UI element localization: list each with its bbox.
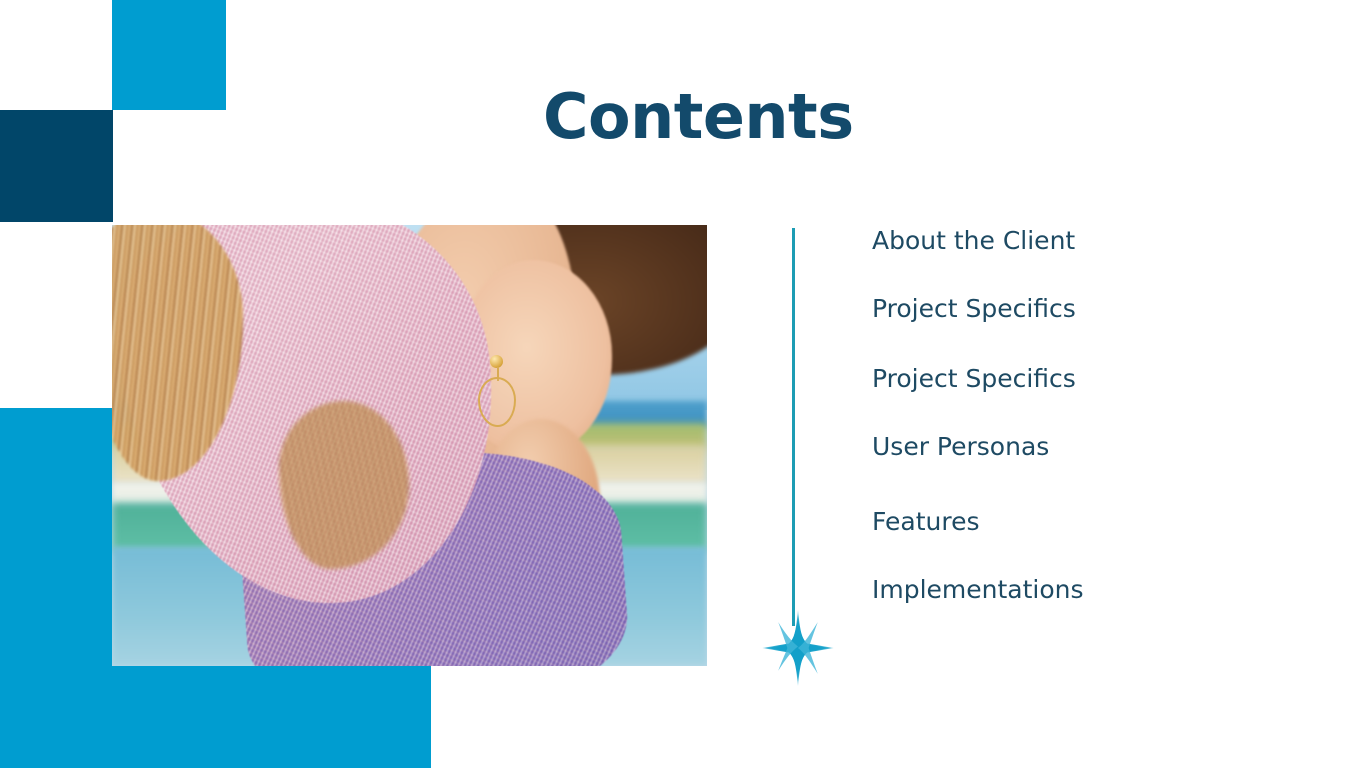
slide-canvas: Contents About the Client Project Specif… — [0, 0, 1366, 768]
decorative-square-navy — [0, 110, 113, 222]
decorative-square-cyan-top — [112, 0, 226, 110]
photo-earring-face-outline — [478, 377, 516, 427]
contents-item-user-personas[interactable]: User Personas — [872, 434, 1049, 459]
contents-item-project-specifics-2[interactable]: Project Specifics — [872, 366, 1076, 391]
page-title: Contents — [543, 86, 854, 148]
contents-item-project-specifics-1[interactable]: Project Specifics — [872, 296, 1076, 321]
sparkle-star-icon — [760, 610, 836, 686]
contents-item-features[interactable]: Features — [872, 509, 980, 534]
hero-photo — [112, 225, 707, 666]
contents-item-implementations[interactable]: Implementations — [872, 577, 1084, 602]
vertical-connector-line — [792, 228, 795, 626]
contents-item-about-the-client[interactable]: About the Client — [872, 228, 1075, 253]
